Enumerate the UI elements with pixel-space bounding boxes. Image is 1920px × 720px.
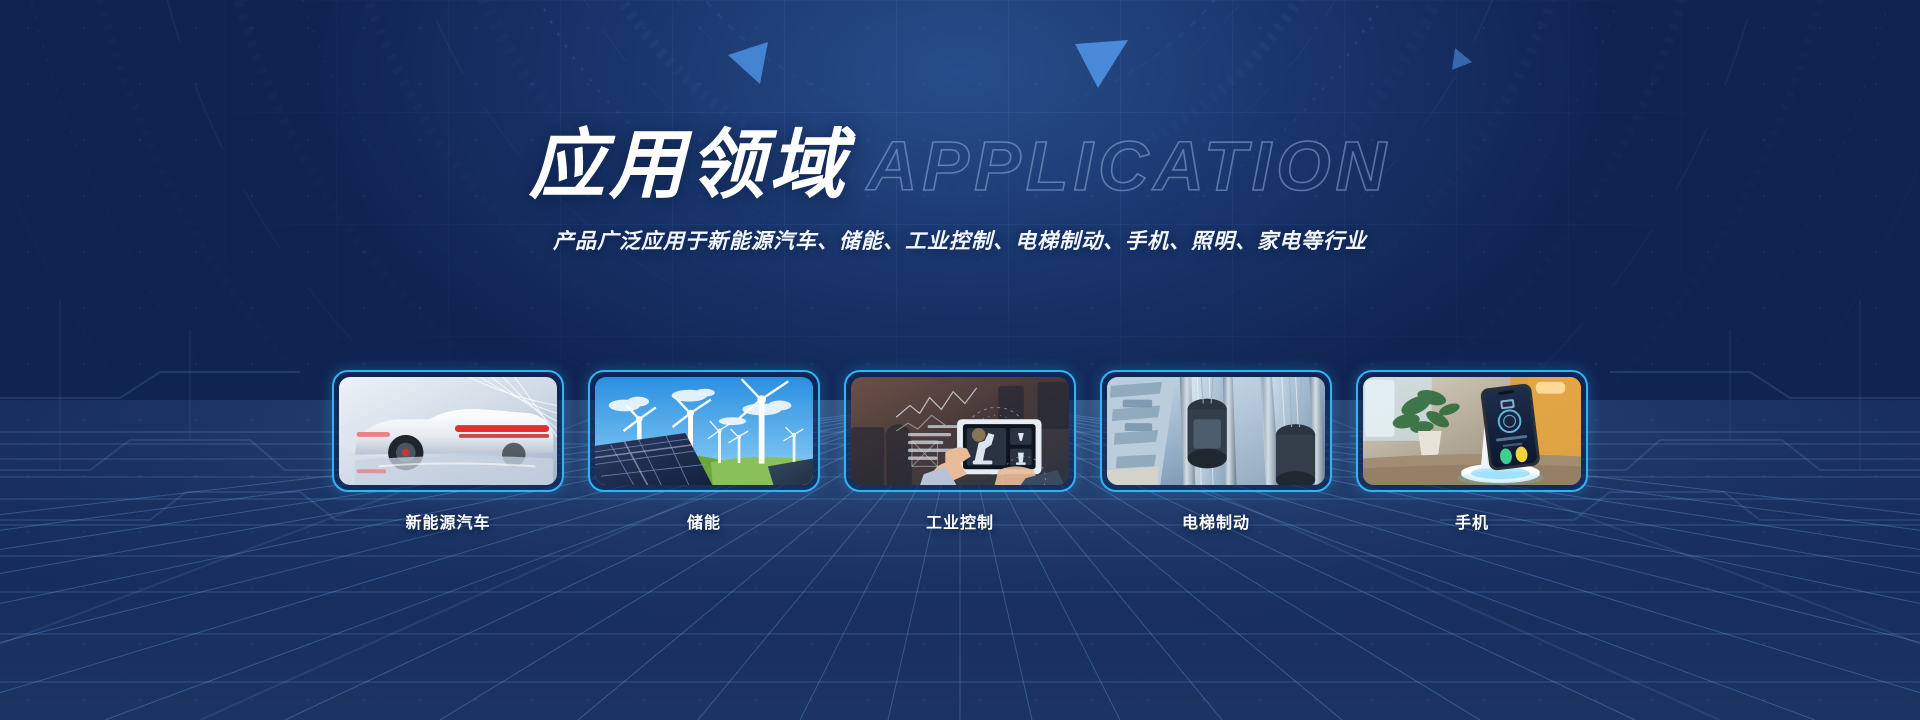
- card-label: 手机: [1455, 509, 1489, 533]
- card-image-smartphone-wireless-charging-stand: [1363, 377, 1581, 485]
- card-label: 新能源汽车: [405, 509, 490, 533]
- banner-subtitle: 产品广泛应用于新能源汽车、储能、工业控制、电梯制动、手机、照明、家电等行业: [0, 225, 1920, 255]
- card-label: 储能: [687, 509, 721, 533]
- banner-heading: 应用领域 APPLICATION: [0, 128, 1920, 204]
- card-label: 电梯制动: [1182, 509, 1250, 533]
- application-banner: 应用领域 APPLICATION 产品广泛应用于新能源汽车、储能、工业控制、电梯…: [0, 0, 1920, 720]
- card-label: 工业控制: [926, 509, 994, 533]
- application-card-industrial-control[interactable]: 工业控制: [844, 370, 1076, 533]
- application-card-mobile-phone[interactable]: 手机: [1356, 370, 1588, 533]
- page-title-cn: 应用领域: [529, 128, 849, 204]
- card-frame[interactable]: [844, 370, 1076, 492]
- card-image-solar-panels-wind-turbines: [595, 377, 813, 485]
- card-image-engineer-tablet-robot-arm-hud: [851, 377, 1069, 485]
- application-card-energy-storage[interactable]: 储能: [588, 370, 820, 533]
- card-frame[interactable]: [1100, 370, 1332, 492]
- card-frame[interactable]: [332, 370, 564, 492]
- card-image-white-sports-car-speed-tunnel: [339, 377, 557, 485]
- card-frame[interactable]: [1356, 370, 1588, 492]
- card-image-glass-elevator-shafts-upward: [1107, 377, 1325, 485]
- page-title-en: APPLICATION: [867, 131, 1391, 201]
- card-frame[interactable]: [588, 370, 820, 492]
- application-card-elevator-braking[interactable]: 电梯制动: [1100, 370, 1332, 533]
- application-card-new-energy-vehicle[interactable]: 新能源汽车: [332, 370, 564, 533]
- application-card-list: 新能源汽车: [0, 370, 1920, 533]
